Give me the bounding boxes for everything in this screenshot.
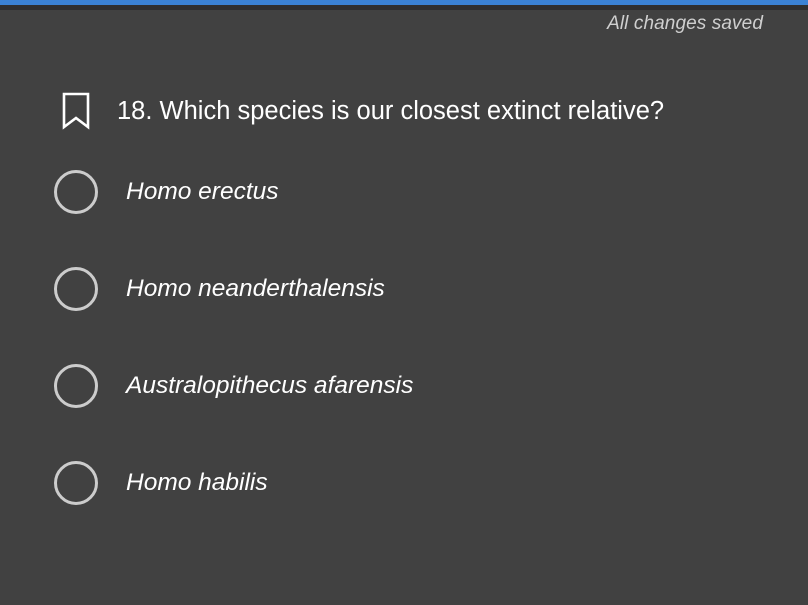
radio-button-option-c[interactable] <box>54 364 98 408</box>
answer-options-list: Homo erectus Homo neanderthalensis Austr… <box>0 160 808 548</box>
answer-option-label: Homo neanderthalensis <box>126 257 385 321</box>
answer-option-label: Homo erectus <box>126 160 279 224</box>
answer-option-row[interactable]: Homo habilis <box>0 451 808 548</box>
autosave-status-text: All changes saved <box>607 13 763 35</box>
answer-option-label: Homo habilis <box>126 451 268 515</box>
answer-option-row[interactable]: Homo erectus <box>0 160 808 257</box>
bookmark-outline-icon[interactable] <box>57 90 95 132</box>
question-header: 18. Which species is our closest extinct… <box>0 84 808 138</box>
radio-button-option-a[interactable] <box>54 170 98 214</box>
answer-option-row[interactable]: Homo neanderthalensis <box>0 257 808 354</box>
radio-button-option-d[interactable] <box>54 461 98 505</box>
answer-option-label: Australopithecus afarensis <box>126 354 413 418</box>
radio-button-option-b[interactable] <box>54 267 98 311</box>
status-bar: All changes saved <box>0 9 808 39</box>
answer-option-row[interactable]: Australopithecus afarensis <box>0 354 808 451</box>
question-title: 18. Which species is our closest extinct… <box>117 84 664 138</box>
